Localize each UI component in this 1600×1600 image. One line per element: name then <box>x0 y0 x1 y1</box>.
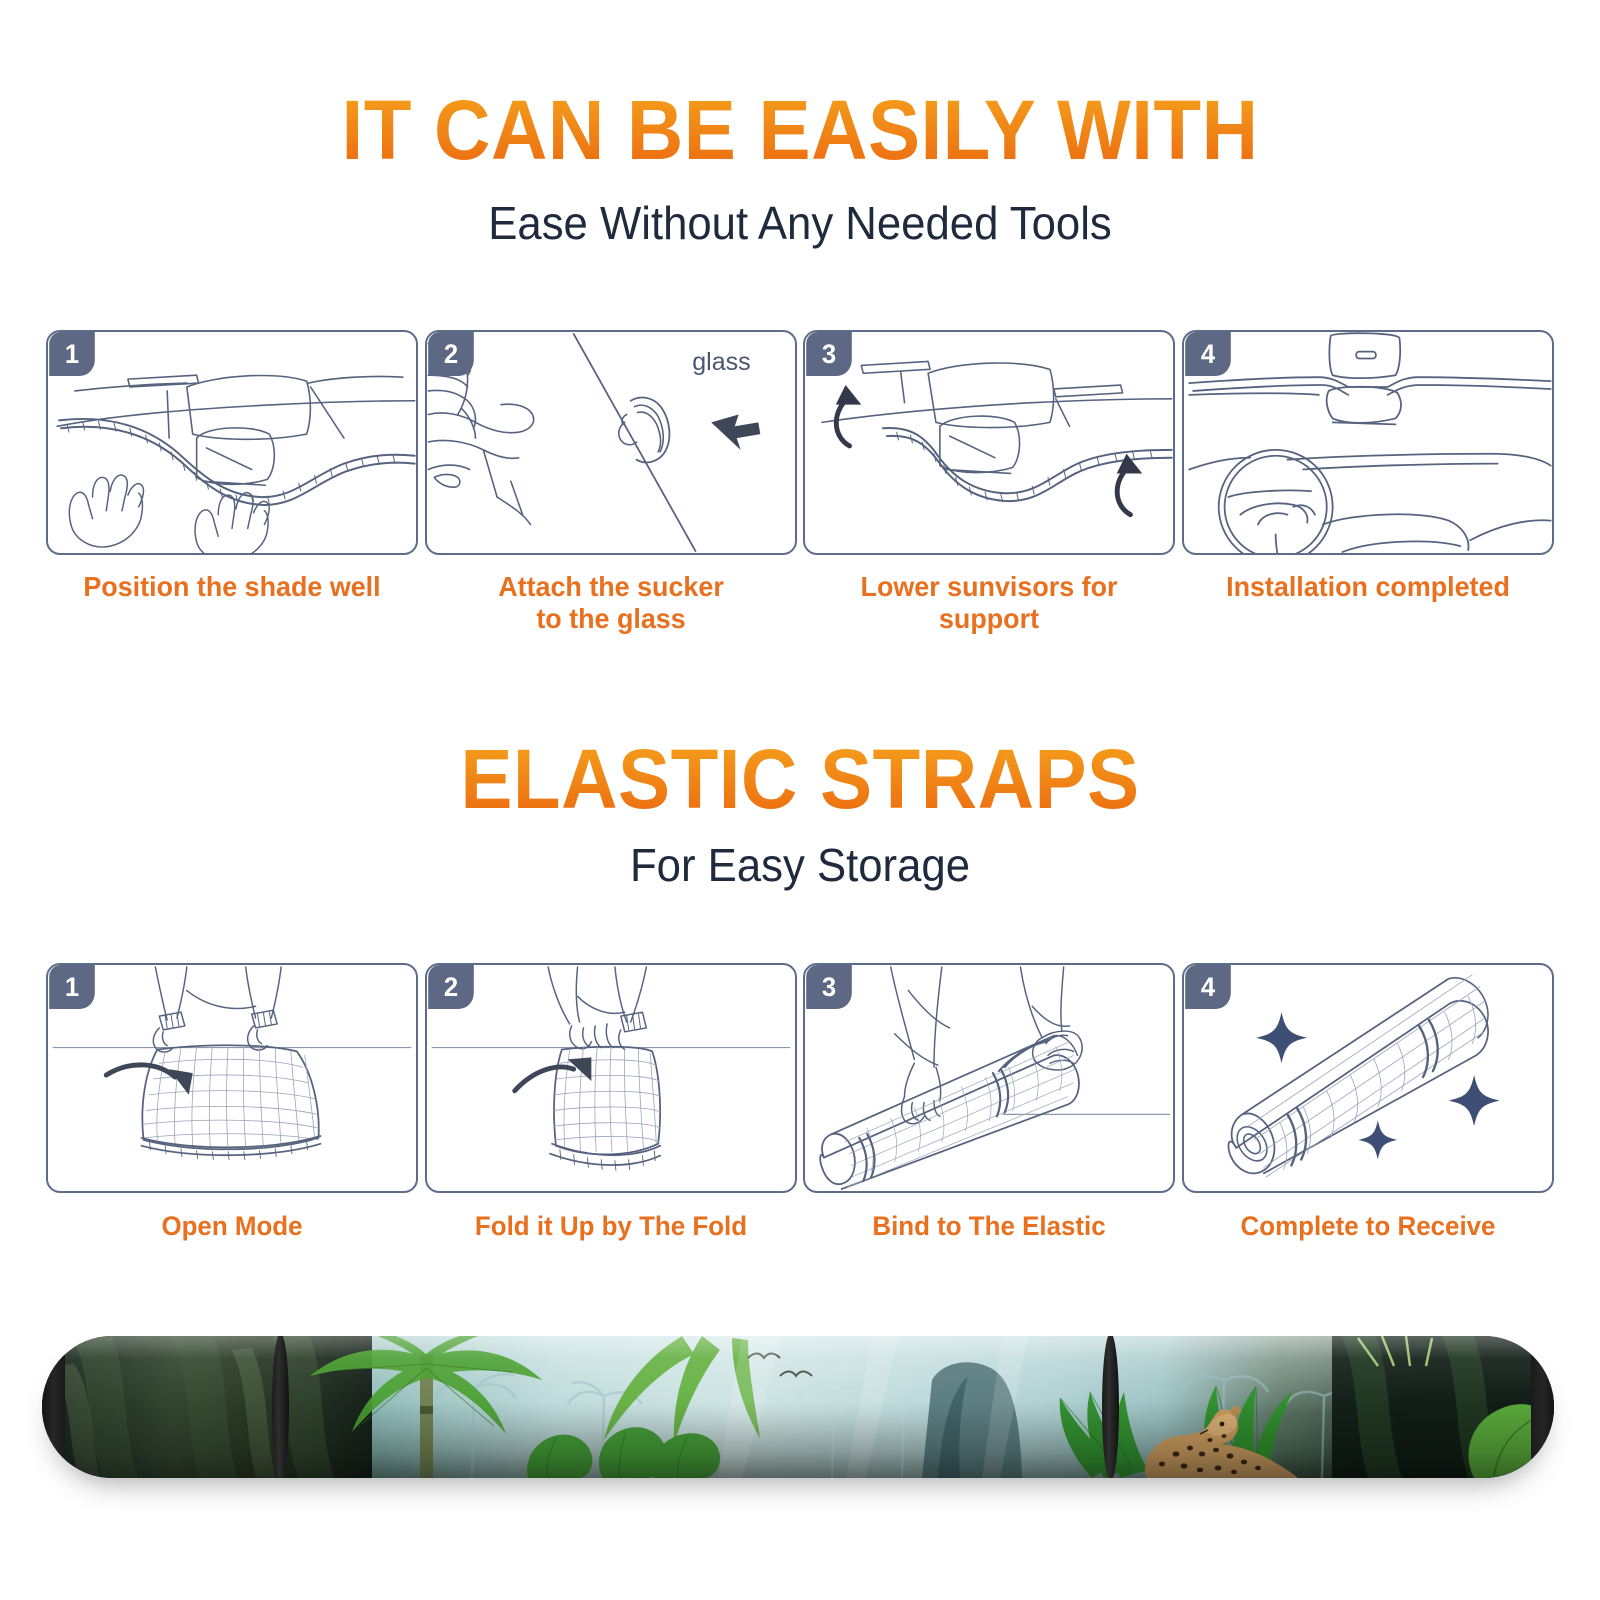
rolled-shade-cylinder <box>42 1336 1554 1478</box>
step-panel-storage-4[interactable]: 4 <box>1182 963 1554 1193</box>
dashboard-hands-illustration <box>48 332 416 553</box>
step-panel-install-4[interactable]: 4 <box>1182 330 1554 555</box>
install-steps-row: 1 <box>46 330 1554 636</box>
step-caption: Complete to Receive <box>1189 1211 1546 1242</box>
step-caption: Lower sunvisors for support <box>811 571 1168 636</box>
interior-complete-illustration <box>1184 332 1552 553</box>
step-cell-install-4: 4 <box>1182 330 1554 636</box>
step-number-badge: 1 <box>49 965 95 1009</box>
step-panel-storage-1[interactable]: 1 <box>46 963 418 1193</box>
step-number-badge: 2 <box>428 332 474 376</box>
jungle-scene-print <box>42 1336 1554 1478</box>
step-panel-storage-2[interactable]: 2 <box>425 963 797 1193</box>
step-panel-storage-3[interactable]: 3 <box>803 963 1175 1193</box>
step-caption: Position the shade well <box>53 571 410 603</box>
storage-steps-row: 1 <box>46 963 1554 1242</box>
page-subtitle-install: Ease Without Any Needed Tools <box>40 196 1560 250</box>
step-number-badge: 3 <box>807 965 853 1009</box>
step-cell-storage-4: 4 <box>1182 963 1554 1242</box>
elastic-band <box>272 1336 289 1478</box>
step-number-badge: 4 <box>1185 332 1231 376</box>
page-subtitle-storage: For Easy Storage <box>40 838 1560 892</box>
step-caption: Fold it Up by The Fold <box>432 1211 789 1242</box>
step-cell-storage-1: 1 <box>46 963 418 1242</box>
step-number-badge: 2 <box>428 965 474 1009</box>
step-caption: Open Mode <box>53 1211 410 1242</box>
glass-label: glass <box>692 348 750 377</box>
step-panel-install-3[interactable]: 3 <box>803 330 1175 555</box>
product-photo-rolled-sunshade <box>42 1336 1554 1478</box>
step-cell-install-3: 3 <box>803 330 1175 636</box>
page-title-install: IT CAN BE EASILY WITH <box>56 88 1544 172</box>
step-cell-install-1: 1 <box>46 330 418 636</box>
step-cell-storage-3: 3 <box>803 963 1175 1242</box>
fold-up-illustration <box>427 965 795 1191</box>
step-caption: Attach the sucker to the glass <box>432 571 789 636</box>
step-cell-storage-2: 2 <box>425 963 797 1242</box>
step-cell-install-2: 2 glass <box>425 330 797 636</box>
step-caption: Installation completed <box>1189 571 1546 603</box>
open-mode-illustration <box>48 965 416 1191</box>
step-number-badge: 1 <box>49 332 95 376</box>
step-panel-install-1[interactable]: 1 <box>46 330 418 555</box>
sunvisors-illustration <box>805 332 1173 553</box>
bind-elastic-illustration <box>805 965 1173 1191</box>
rolled-complete-illustration <box>1184 965 1552 1191</box>
elastic-band-left-cap <box>42 1336 65 1478</box>
step-number-badge: 4 <box>1185 965 1231 1009</box>
elastic-band <box>1102 1336 1119 1478</box>
step-panel-install-2[interactable]: 2 glass <box>425 330 797 555</box>
page-title-storage: ELASTIC STRAPS <box>56 737 1544 821</box>
step-number-badge: 3 <box>807 332 853 376</box>
step-caption: Bind to The Elastic <box>811 1211 1168 1242</box>
